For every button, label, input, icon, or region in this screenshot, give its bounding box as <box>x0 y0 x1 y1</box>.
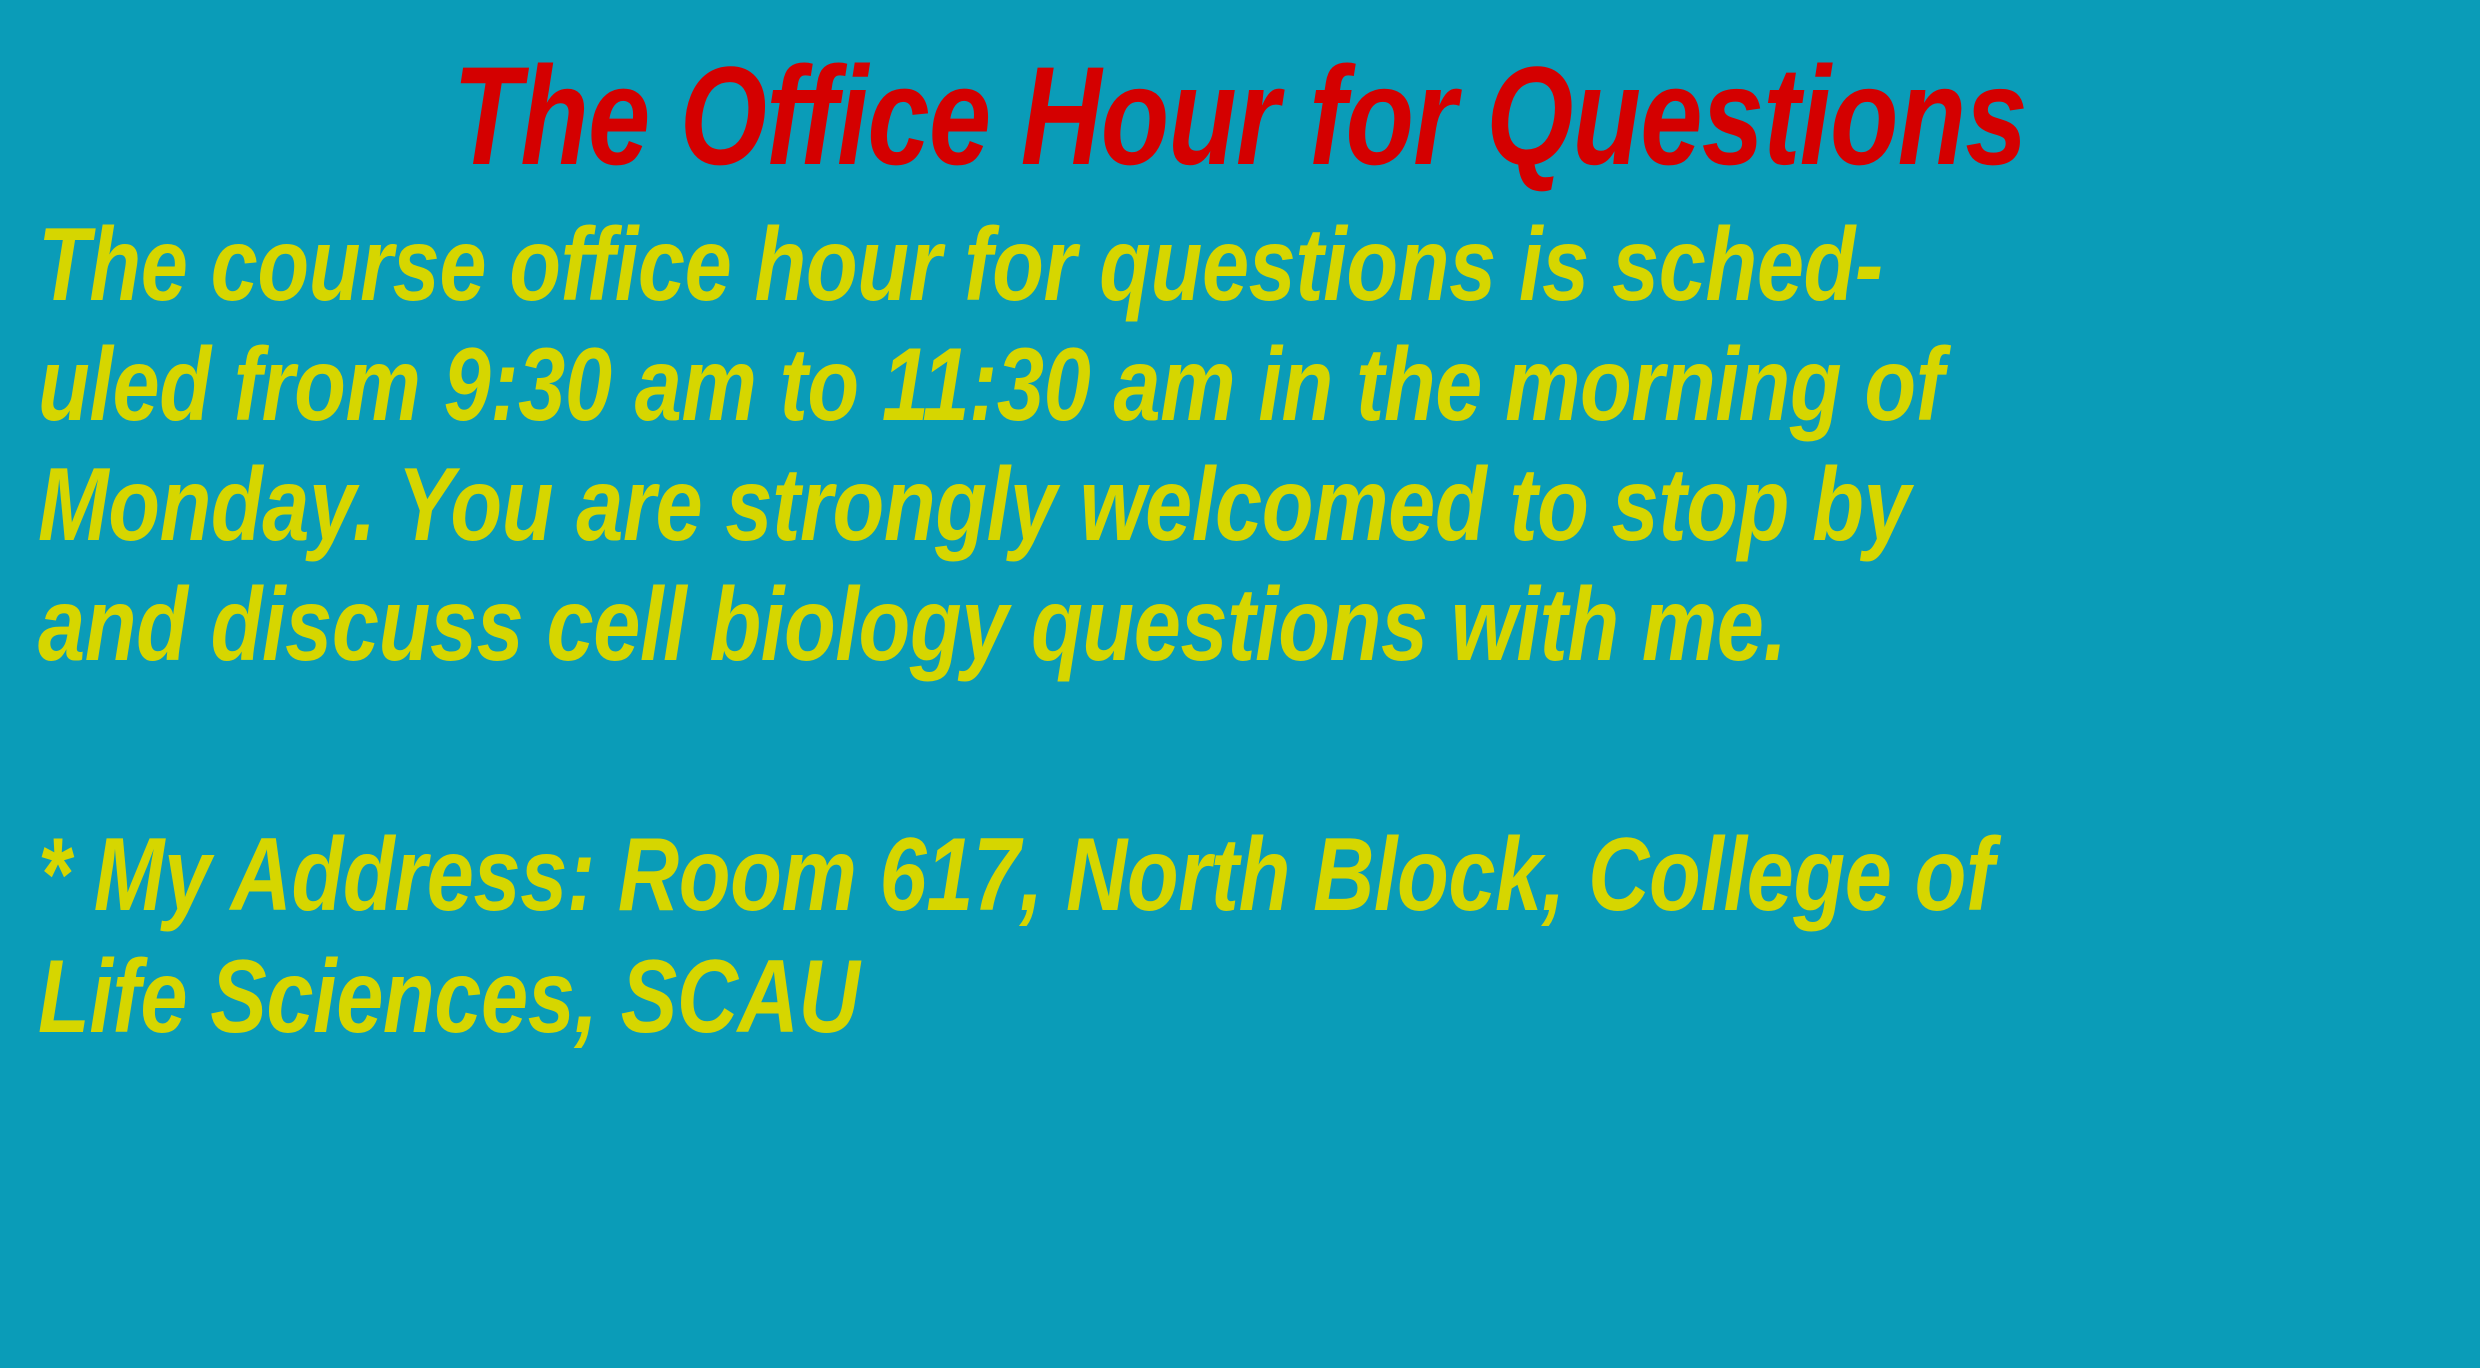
body-paragraph: The course office hour for questions is … <box>38 205 2458 685</box>
presentation-slide: The Office Hour for Questions The course… <box>0 0 2480 1368</box>
address-paragraph: * My Address: Room 617, North Block, Col… <box>38 814 2458 1058</box>
address-line: Life Sciences, SCAU <box>38 936 2010 1058</box>
body-line: uled from 9:30 am to 11:30 am in the mor… <box>38 325 2010 445</box>
body-line: Monday. You are strongly welcomed to sto… <box>38 445 2010 565</box>
page-title: The Office Hour for Questions <box>453 46 2027 186</box>
title-container: The Office Hour for Questions <box>0 46 2480 186</box>
address-line: * My Address: Room 617, North Block, Col… <box>38 814 2010 936</box>
body-line: The course office hour for questions is … <box>38 205 2010 325</box>
body-line: and discuss cell biology questions with … <box>38 565 2010 685</box>
